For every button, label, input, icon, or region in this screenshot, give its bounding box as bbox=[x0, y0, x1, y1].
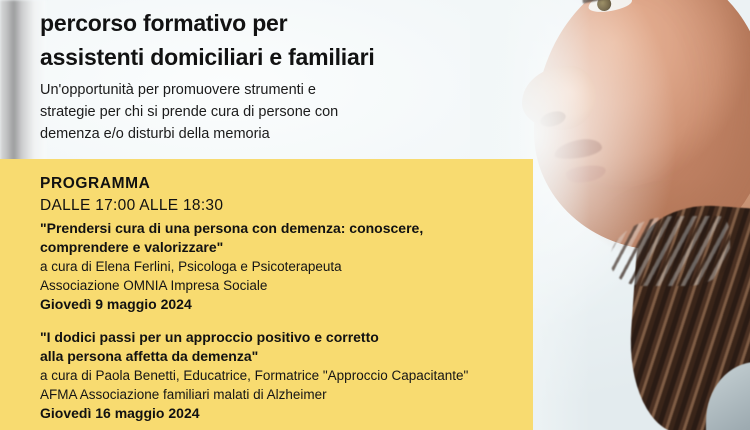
event-title-line-2: comprendere e valorizzare" bbox=[40, 238, 525, 257]
event-title-line-1: "Prendersi cura di una persona con demen… bbox=[40, 219, 525, 238]
programme-event: "I dodici passi per un approccio positiv… bbox=[40, 328, 525, 423]
programme-time: DALLE 17:00 ALLE 18:30 bbox=[40, 194, 525, 217]
event-title-line-1: "I dodici passi per un approccio positiv… bbox=[40, 328, 525, 347]
event-organisation: AFMA Associazione familiari malati di Al… bbox=[40, 385, 525, 404]
subhead-line-2: strategie per chi si prende cura di pers… bbox=[40, 101, 460, 123]
programme-heading: PROGRAMMA bbox=[40, 173, 525, 194]
iris-shape bbox=[596, 0, 612, 12]
event-date: Giovedì 9 maggio 2024 bbox=[40, 295, 525, 314]
page-subtitle: Un'opportunità per promuovere strumenti … bbox=[40, 79, 460, 145]
poster-canvas: percorso formativo per assistenti domici… bbox=[0, 0, 750, 430]
headline-line-1: percorso formativo per bbox=[40, 6, 510, 40]
event-organisation: Associazione OMNIA Impresa Sociale bbox=[40, 276, 525, 295]
headline-line-2: assistenti domiciliari e familiari bbox=[40, 40, 510, 74]
event-speaker: a cura di Elena Ferlini, Psicologa e Psi… bbox=[40, 257, 525, 276]
page-title: percorso formativo per assistenti domici… bbox=[40, 6, 510, 74]
event-date: Giovedì 16 maggio 2024 bbox=[40, 404, 525, 423]
event-title-line-2: alla persona affetta da demenza" bbox=[40, 347, 525, 366]
programme-event: "Prendersi cura di una persona con demen… bbox=[40, 219, 525, 314]
event-speaker: a cura di Paola Benetti, Educatrice, For… bbox=[40, 366, 525, 385]
subhead-line-3: demenza e/o disturbi della memoria bbox=[40, 123, 460, 145]
subhead-line-1: Un'opportunità per promuovere strumenti … bbox=[40, 79, 460, 101]
programme-panel: PROGRAMMA DALLE 17:00 ALLE 18:30 "Prende… bbox=[0, 159, 533, 430]
programme-content: PROGRAMMA DALLE 17:00 ALLE 18:30 "Prende… bbox=[40, 173, 525, 423]
